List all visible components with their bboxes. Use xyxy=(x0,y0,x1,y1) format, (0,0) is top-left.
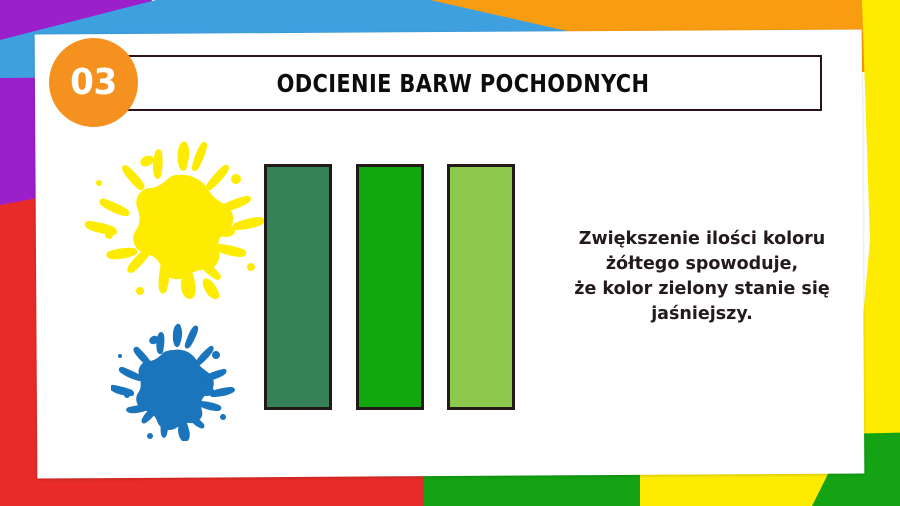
color-swatch-dark-green xyxy=(264,164,332,410)
title-box: ODCIENIE BARW POCHODNYCH xyxy=(100,55,822,111)
blue-paint-splatter xyxy=(111,323,236,441)
color-swatch-green xyxy=(356,164,424,410)
content-card: ODCIENIE BARW POCHODNYCH 03 xyxy=(35,29,865,478)
yellow-paint-splatter xyxy=(83,139,269,299)
color-swatch-light-green xyxy=(447,164,515,410)
page-title: ODCIENIE BARW POCHODNYCH xyxy=(127,57,798,113)
slide: ODCIENIE BARW POCHODNYCH 03 xyxy=(0,0,900,506)
content-card-inner: ODCIENIE BARW POCHODNYCH 03 xyxy=(36,32,863,476)
section-number-badge: 03 xyxy=(49,38,138,127)
body-text: Zwiększenie ilości koloru żółtego spowod… xyxy=(544,227,860,327)
section-number-label: 03 xyxy=(51,38,136,127)
